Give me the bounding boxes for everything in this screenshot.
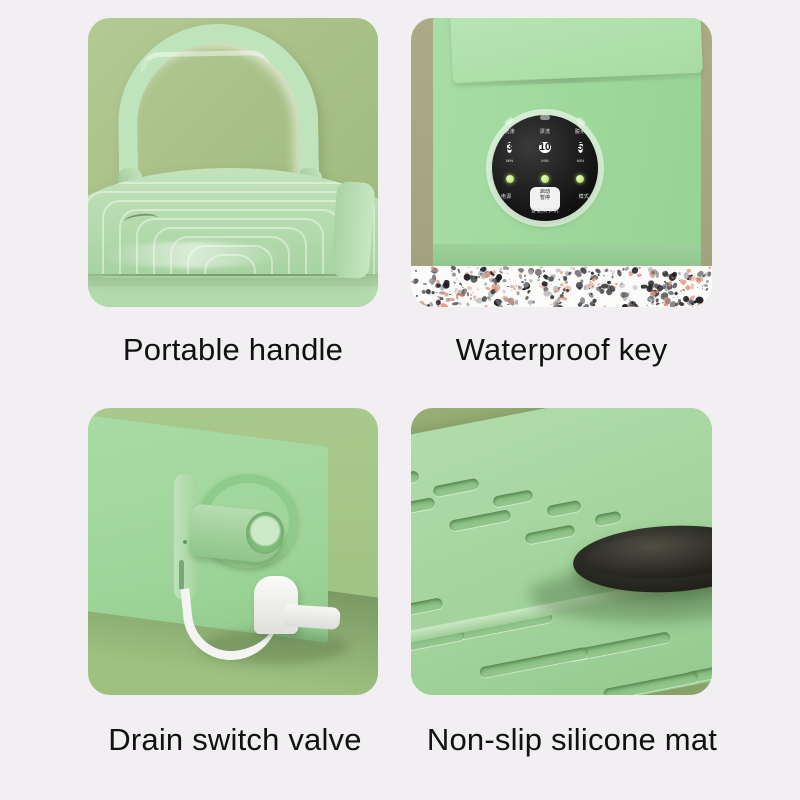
deck-slot (411, 597, 443, 622)
terrazzo-fleck (503, 266, 507, 270)
program-wash-value: 3 (507, 142, 513, 153)
terrazzo-fleck (706, 280, 709, 283)
terrazzo-fleck (484, 305, 489, 307)
terrazzo-fleck (592, 303, 595, 306)
deck-slot (411, 497, 436, 518)
terrazzo-fleck (456, 268, 460, 274)
caption-waterproof-key: Waterproof key (411, 332, 712, 368)
deck-slot (449, 509, 512, 532)
terrazzo-fleck (484, 282, 488, 286)
deck-slot (492, 489, 533, 507)
terrazzo-fleck (467, 292, 469, 296)
terrazzo-fleck (472, 292, 474, 294)
program-spin-value: 5 (578, 142, 584, 153)
terrazzo-fleck (491, 269, 497, 275)
terrazzo-fleck (588, 271, 590, 273)
terrazzo-fleck (610, 270, 612, 272)
feature-image-waterproof-key: 洗涤 3 MIN 漂洗 10 MIN 脱水 5 MIN (411, 18, 712, 307)
valve-plate-slot (179, 560, 184, 590)
terrazzo-fleck (706, 287, 709, 290)
terrazzo-fleck (458, 290, 462, 294)
terrazzo-fleck (457, 277, 458, 279)
terrazzo-fleck (439, 285, 445, 291)
terrazzo-fleck (543, 290, 550, 296)
body-highlight (102, 242, 282, 268)
program-wash[interactable]: 洗涤 3 MIN (496, 129, 524, 163)
terrazzo-fleck (412, 280, 414, 282)
terrazzo-fleck (503, 279, 507, 283)
silicone-mat-inner (584, 529, 712, 583)
program-rinse-value: 10 (539, 142, 550, 153)
terrazzo-fleck (565, 271, 569, 276)
terrazzo-fleck (452, 272, 456, 277)
terrazzo-fleck (603, 306, 606, 307)
terrazzo-fleck (697, 287, 699, 289)
caption-drain-switch-valve: Drain switch valve (76, 722, 394, 758)
terrazzo-fleck (501, 289, 506, 294)
terrazzo-fleck (509, 279, 510, 280)
drain-plug-tab[interactable] (283, 604, 340, 630)
terrazzo-fleck (633, 284, 639, 289)
terrazzo-fleck (605, 268, 609, 272)
terrazzo-fleck (440, 297, 444, 301)
terrazzo-fleck (533, 301, 536, 304)
terrazzo-fleck (558, 278, 560, 280)
terrazzo-fleck (538, 275, 541, 278)
terrazzo-fleck (702, 288, 703, 289)
deck-slot (411, 471, 420, 488)
terrazzo-fleck (431, 291, 435, 295)
terrazzo-fleck (537, 279, 540, 282)
deck-slot (594, 510, 622, 526)
terrazzo-fleck (530, 305, 531, 306)
feature-image-drain-switch-valve (88, 408, 378, 695)
terrazzo-fleck (654, 281, 656, 283)
handle-mount-post (331, 181, 376, 279)
led-indicator (506, 175, 514, 183)
caption-non-slip-silicone-mat: Non-slip silicone mat (392, 722, 752, 758)
mode-label: 模式 (579, 193, 589, 200)
terrazzo-fleck (471, 298, 473, 301)
terrazzo-fleck (583, 285, 587, 290)
terrazzo-fleck (453, 281, 456, 284)
terrazzo-fleck (588, 291, 595, 298)
power-label: 电源 (501, 193, 511, 200)
terrazzo-fleck (678, 272, 682, 276)
valve-plate-screw (183, 540, 187, 544)
terrazzo-fleck (430, 301, 434, 307)
waterproof-control-dial[interactable]: 洗涤 3 MIN 漂洗 10 MIN 脱水 5 MIN (492, 115, 598, 221)
deck-slot (524, 525, 575, 545)
program-wash-label: 洗涤 (496, 129, 524, 136)
terrazzo-fleck (527, 270, 534, 277)
terrazzo-fleck (495, 287, 497, 289)
terrazzo-fleck (486, 270, 488, 272)
terrazzo-fleck (519, 274, 523, 280)
program-wash-unit: MIN (496, 158, 524, 163)
terrazzo-fleck (561, 296, 568, 301)
terrazzo-fleck (619, 283, 625, 288)
program-spin[interactable]: 脱水 5 MIN (566, 129, 594, 163)
terrazzo-fleck (527, 291, 530, 294)
terrazzo-fleck (703, 284, 707, 287)
terrazzo-fleck (477, 289, 479, 291)
program-spin-label: 脱水 (566, 129, 594, 136)
caption-portable-handle: Portable handle (88, 332, 378, 368)
led-indicator (576, 175, 584, 183)
led-indicator (541, 175, 549, 183)
deck-slot (546, 500, 581, 517)
terrazzo-fleck (565, 281, 569, 285)
terrazzo-floor (411, 266, 712, 307)
terrazzo-fleck (507, 286, 509, 287)
terrazzo-fleck (607, 281, 611, 284)
terrazzo-fleck (416, 295, 418, 297)
terrazzo-fleck (652, 303, 654, 305)
terrazzo-fleck (652, 271, 655, 274)
program-row: 洗涤 3 MIN 漂洗 10 MIN 脱水 5 MIN (492, 129, 598, 163)
dial-tick (540, 115, 550, 120)
program-rinse[interactable]: 漂洗 10 MIN (531, 129, 559, 163)
terrazzo-fleck (550, 304, 552, 306)
terrazzo-fleck (708, 266, 712, 270)
terrazzo-fleck (707, 299, 712, 302)
program-rinse-unit: MIN (531, 158, 559, 163)
terrazzo-fleck (683, 280, 687, 283)
terrazzo-fleck (452, 301, 459, 305)
program-rinse-label: 漂洗 (531, 129, 559, 136)
terrazzo-fleck (518, 268, 524, 273)
deck-slot (479, 646, 589, 678)
feature-image-non-slip-silicone-mat (411, 408, 712, 695)
terrazzo-fleck (459, 302, 462, 306)
indicator-led-row (492, 175, 598, 183)
terrazzo-fleck (615, 283, 618, 286)
terrazzo-fleck (423, 283, 427, 286)
start-pause-line2: 暂停 (540, 195, 550, 201)
terrazzo-fleck (668, 291, 674, 296)
terrazzo-fleck (470, 276, 477, 283)
feature-grid: 洗涤 3 MIN 漂洗 10 MIN 脱水 5 MIN (0, 0, 800, 800)
terrazzo-fleck (494, 280, 497, 284)
terrazzo-fleck (559, 270, 563, 274)
terrazzo-fleck (594, 267, 601, 274)
terrazzo-fleck (446, 298, 450, 302)
machine-body-lower (88, 286, 378, 307)
feature-image-portable-handle (88, 18, 378, 307)
terrazzo-fleck (474, 298, 476, 301)
terrazzo-fleck (524, 275, 527, 278)
terrazzo-fleck (630, 291, 631, 293)
dial-footer-text: 智能洗衣机 (492, 207, 598, 214)
terrazzo-fleck (690, 285, 695, 289)
terrazzo-fleck (673, 297, 675, 299)
terrazzo-fleck (603, 275, 605, 277)
terrazzo-fleck (551, 284, 552, 285)
terrazzo-fleck (664, 281, 669, 286)
terrazzo-fleck (612, 275, 614, 278)
deck-slot (432, 477, 479, 497)
terrazzo-fleck (662, 298, 664, 300)
terrazzo-fleck (637, 274, 642, 278)
terrazzo-fleck (516, 292, 519, 297)
terrazzo-fleck (516, 300, 519, 305)
terrazzo-fleck (511, 290, 513, 292)
terrazzo-fleck (449, 294, 451, 295)
terrazzo-fleck (415, 270, 418, 273)
terrazzo-fleck (507, 273, 509, 274)
program-spin-unit: MIN (566, 158, 594, 163)
terrazzo-fleck (646, 304, 647, 306)
terrazzo-fleck (614, 285, 616, 287)
deck-slot (603, 671, 699, 695)
terrazzo-fleck (507, 304, 510, 305)
machine-base (433, 244, 701, 268)
terrazzo-fleck (466, 302, 471, 307)
terrazzo-fleck (468, 267, 470, 269)
terrazzo-fleck (440, 303, 449, 307)
terrazzo-fleck (584, 304, 590, 307)
terrazzo-fleck (623, 275, 625, 277)
terrazzo-fleck (521, 281, 524, 283)
terrazzo-fleck (561, 301, 563, 303)
terrazzo-fleck (680, 290, 682, 293)
